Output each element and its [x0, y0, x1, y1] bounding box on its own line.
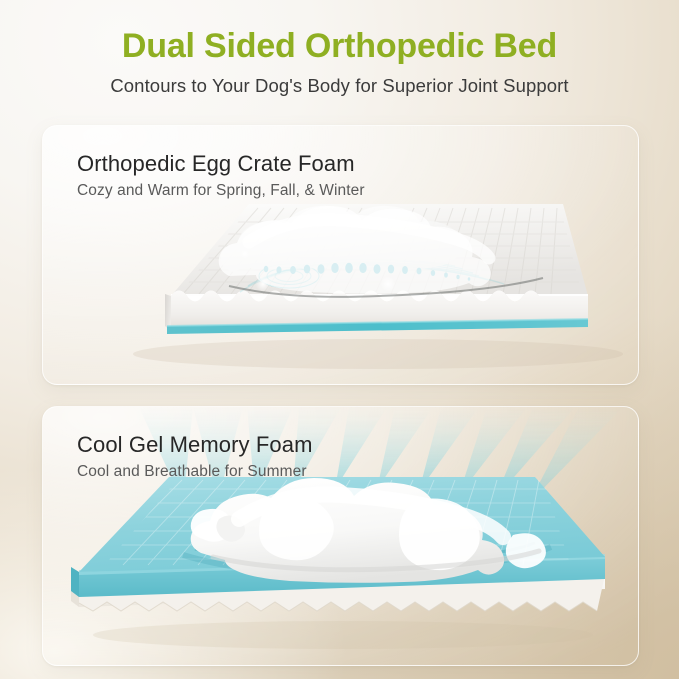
card-orthopedic-egg-crate-foam: Orthopedic Egg Crate Foam Cozy and Warm …	[42, 125, 639, 385]
card-heading-gel: Cool Gel Memory Foam	[77, 430, 313, 460]
dog-form	[219, 206, 491, 294]
page-subtitle: Contours to Your Dog's Body for Superior…	[0, 73, 679, 99]
dog-form	[191, 478, 546, 583]
product-feature-graphic: Dual Sided Orthopedic Bed Contours to Yo…	[0, 0, 679, 679]
header: Dual Sided Orthopedic Bed Contours to Yo…	[0, 24, 679, 99]
page-title: Dual Sided Orthopedic Bed	[0, 24, 679, 68]
card-subheading-orthopedic: Cozy and Warm for Spring, Fall, & Winter	[77, 180, 365, 202]
card-subheading-gel: Cool and Breathable for Summer	[77, 461, 307, 483]
card-cool-gel-memory-foam: Cool Gel Memory Foam Cool and Breathable…	[42, 406, 639, 666]
card-heading-orthopedic: Orthopedic Egg Crate Foam	[77, 149, 355, 179]
